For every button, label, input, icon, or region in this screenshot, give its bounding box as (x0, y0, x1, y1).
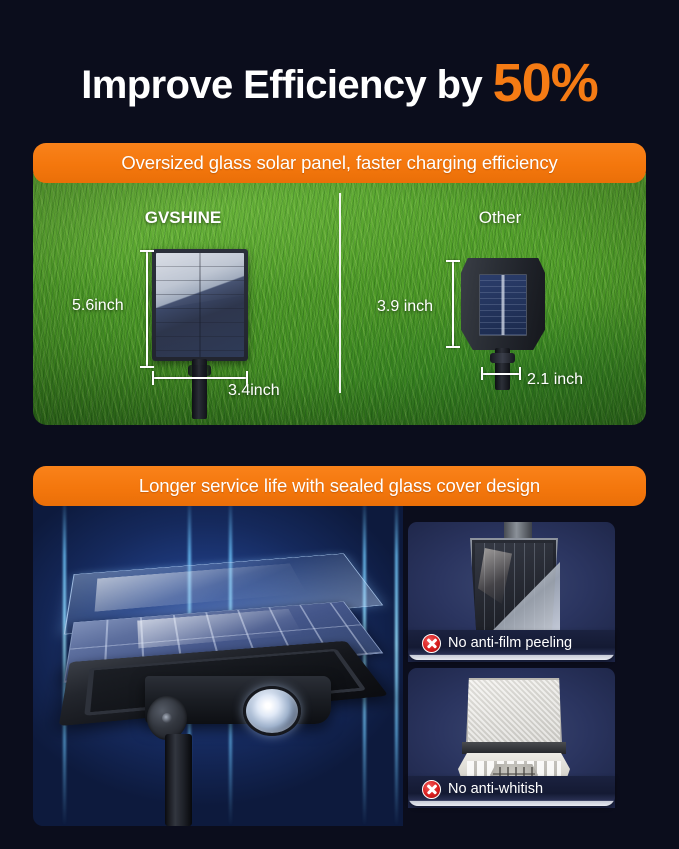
light-streak (395, 496, 398, 826)
gvshine-width-bracket-left (152, 371, 154, 385)
section-2-banner-label: Longer service life with sealed glass co… (139, 475, 540, 497)
other-width-bracket-left (481, 367, 483, 380)
comparison-divider (339, 193, 341, 393)
gvshine-height-label: 5.6inch (72, 297, 124, 315)
brand-column-label: GVSHINE (133, 208, 233, 228)
exploded-view-panel (33, 496, 403, 826)
led-lens (243, 686, 301, 736)
other-height-bracket-bottom (446, 346, 460, 348)
caption-whitish: No anti-whitish (408, 776, 615, 806)
other-housing (461, 258, 545, 350)
other-height-bracket (452, 260, 454, 348)
thumbnail-1-pole (504, 522, 532, 540)
page-title: Improve Efficiency by 50% (0, 52, 679, 114)
red-x-icon (422, 634, 441, 653)
gvshine-height-bracket-bottom (140, 366, 154, 368)
other-solar-cells (479, 274, 527, 336)
gvshine-width-bracket (152, 377, 248, 379)
other-height-label: 3.9 inch (377, 298, 433, 316)
gvshine-solar-cells (156, 253, 244, 357)
mounting-pole (165, 734, 192, 826)
thumbnail-2-frame (462, 742, 566, 754)
page-title-text: Improve Efficiency by (81, 63, 492, 107)
other-width-bracket (481, 373, 521, 375)
red-x-icon (422, 780, 441, 799)
gvshine-solar-panel (152, 249, 248, 361)
other-collar (490, 353, 515, 363)
exploded-solar-light (55, 518, 387, 818)
other-width-label: 2.1 inch (527, 371, 583, 389)
other-column-label: Other (455, 208, 545, 228)
gvshine-width-label: 3.4inch (228, 382, 280, 400)
other-width-bracket-right (519, 367, 521, 380)
other-height-bracket-top (446, 260, 460, 262)
caption-film-peeling: No anti-film peeling (408, 630, 615, 660)
whitish-panel-surface (466, 678, 562, 744)
section-2-banner: Longer service life with sealed glass co… (33, 466, 646, 506)
section-1-banner-label: Oversized glass solar panel, faster char… (121, 152, 557, 174)
gvshine-collar (188, 365, 211, 376)
gvshine-height-bracket-top (140, 250, 154, 252)
page-title-highlight: 50% (493, 53, 598, 113)
caption-film-peeling-label: No anti-film peeling (448, 635, 572, 651)
section-1-banner: Oversized glass solar panel, faster char… (33, 143, 646, 183)
product-feature-graphic: Improve Efficiency by 50% Oversized glas… (0, 0, 679, 849)
caption-whitish-label: No anti-whitish (448, 781, 543, 797)
gvshine-height-bracket (146, 250, 148, 368)
